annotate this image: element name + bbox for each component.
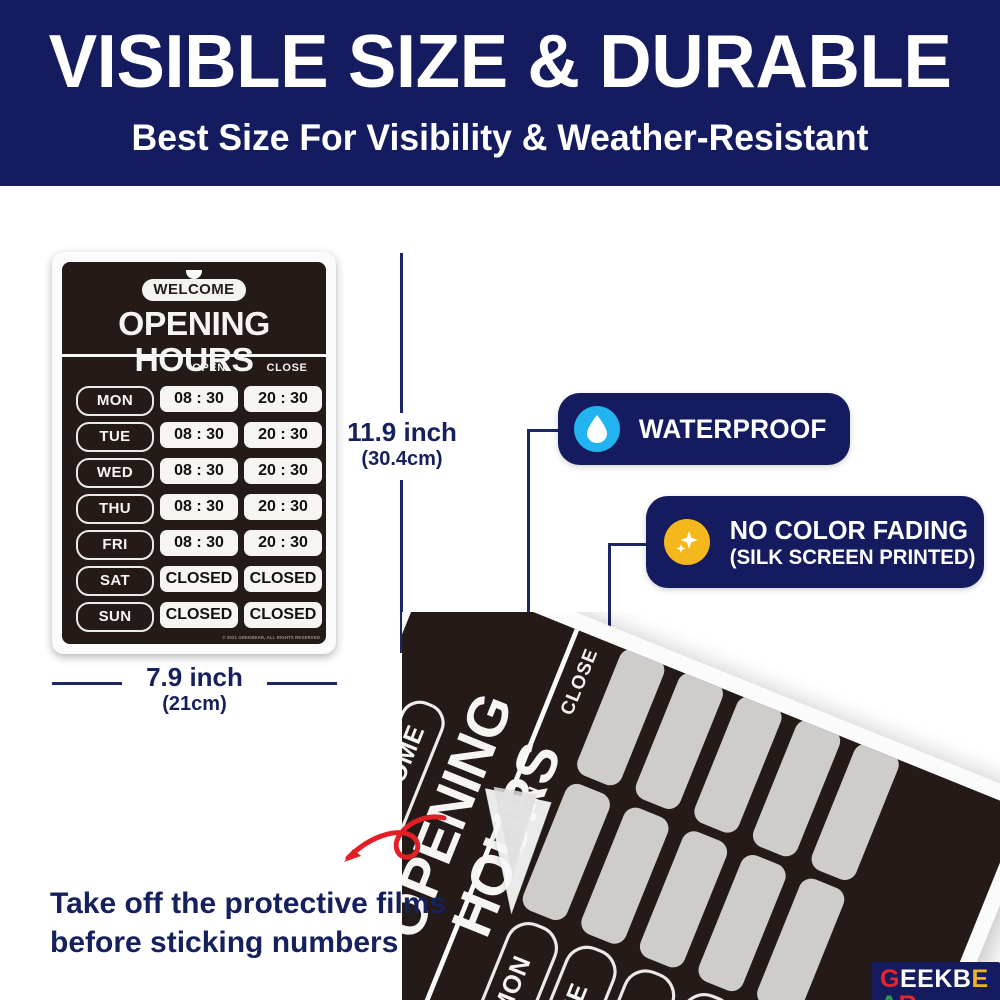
close-time: CLOSED (244, 566, 322, 592)
caption-line-2: before sticking numbers (50, 923, 470, 962)
column-header-close: CLOSE (252, 362, 322, 374)
sparkle-icon (664, 519, 710, 565)
day-label: SUN (76, 602, 154, 632)
day-label: FRI (76, 530, 154, 560)
sign-plate: WELCOME OPENING HOURS OPEN CLOSE MON 08 … (52, 252, 336, 654)
opening-hours-sign: WELCOME OPENING HOURS OPEN CLOSE MON 08 … (52, 252, 336, 654)
day-label: TUE (76, 422, 154, 452)
width-inch-value: 7.9 inch (112, 663, 277, 692)
table-row: SUN CLOSED CLOSED (62, 599, 326, 635)
close-time: 20 : 30 (244, 494, 322, 520)
height-dimension-line-top (400, 253, 403, 413)
close-time: CLOSED (244, 602, 322, 628)
day-label: SAT (76, 566, 154, 596)
logo-letter: A (880, 992, 899, 1000)
open-time: CLOSED (160, 602, 238, 628)
header-banner: VISIBLE SIZE & DURABLE Best Size For Vis… (0, 0, 1000, 186)
table-row: THU 08 : 30 20 : 30 (62, 491, 326, 527)
feature-label-no-color-fading: NO COLOR FADING (SILK SCREEN PRINTED) (730, 515, 976, 570)
table-row: TUE 08 : 30 20 : 30 (62, 419, 326, 455)
open-time: 08 : 30 (160, 530, 238, 556)
column-headers: OPEN CLOSE (62, 362, 326, 380)
feature-badge-no-color-fading[interactable]: NO COLOR FADING (SILK SCREEN PRINTED) (646, 496, 984, 588)
logo-letter: E (917, 966, 934, 992)
close-time: 20 : 30 (244, 458, 322, 484)
open-time: 08 : 30 (160, 422, 238, 448)
water-drop-icon (574, 406, 620, 452)
height-inch-value: 11.9 inch (340, 418, 464, 447)
banner-title: VISIBLE SIZE & DURABLE (15, 22, 985, 100)
sign-face: WELCOME OPENING HOURS OPEN CLOSE MON 08 … (62, 262, 326, 644)
connector-line-nofading-h (608, 543, 650, 546)
logo-letter: G (880, 966, 900, 992)
open-time: 08 : 30 (160, 386, 238, 412)
feature-badge-waterproof[interactable]: WATERPROOF (558, 393, 850, 465)
close-time: 20 : 30 (244, 386, 322, 412)
table-row: WED 08 : 30 20 : 30 (62, 455, 326, 491)
day-label: THU (76, 494, 154, 524)
day-label: MON (76, 386, 154, 416)
schedule-rows: MON 08 : 30 20 : 30 TUE 08 : 30 20 : 30 … (62, 383, 326, 635)
feature-label-waterproof: WATERPROOF (639, 414, 827, 444)
infographic-canvas: VISIBLE SIZE & DURABLE Best Size For Vis… (0, 0, 1000, 1000)
connector-line-waterproof-h (527, 429, 560, 432)
table-row: FRI 08 : 30 20 : 30 (62, 527, 326, 563)
table-row: MON 08 : 30 20 : 30 (62, 383, 326, 419)
feature-label-sub: (SILK SCREEN PRINTED) (730, 545, 976, 570)
width-dimension-label: 7.9 inch (21cm) (112, 663, 277, 716)
logo-letter: E (900, 966, 917, 992)
logo-letter: B (953, 966, 972, 992)
width-cm-value: (21cm) (112, 692, 277, 716)
day-label: WED (76, 458, 154, 488)
instruction-caption: Take off the protective films before sti… (50, 884, 470, 962)
height-dimension-label: 11.9 inch (30.4cm) (340, 418, 464, 471)
table-row: SAT CLOSED CLOSED (62, 563, 326, 599)
column-header-open: OPEN (174, 362, 244, 374)
red-curved-arrow-icon (320, 812, 450, 892)
open-time: 08 : 30 (160, 494, 238, 520)
caption-line-1: Take off the protective films (50, 884, 470, 923)
open-time: CLOSED (160, 566, 238, 592)
copyright-text: © 2021 GEEKBEAR, ALL RIGHTS RESERVED (222, 635, 320, 640)
close-time: 20 : 30 (244, 530, 322, 556)
logo-letter: E (971, 966, 988, 992)
banner-subtitle: Best Size For Visibility & Weather-Resis… (20, 118, 980, 158)
open-time: 08 : 30 (160, 458, 238, 484)
close-time: 20 : 30 (244, 422, 322, 448)
welcome-pill: WELCOME (142, 279, 246, 301)
brand-logo-geekbear: GEEKBEAR (872, 962, 1000, 1000)
logo-letter: K (934, 966, 953, 992)
width-dimension-line-right (267, 682, 337, 685)
height-cm-value: (30.4cm) (340, 447, 464, 471)
feature-label-main: NO COLOR FADING (730, 515, 968, 545)
logo-letter: R (899, 992, 918, 1000)
